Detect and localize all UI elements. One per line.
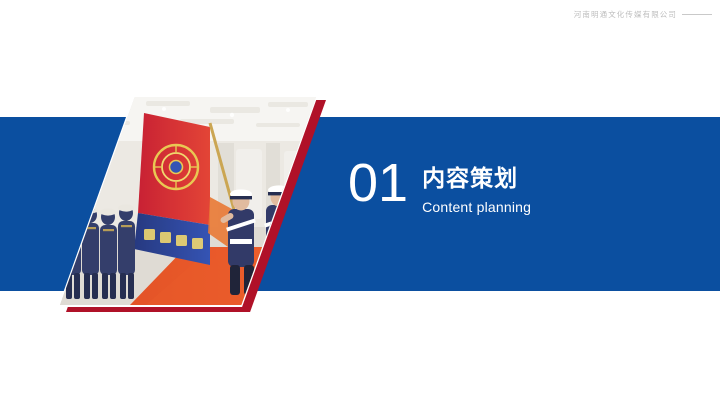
section-number: 01 <box>348 158 408 209</box>
honor-guard-photo <box>60 97 316 305</box>
section-title-block: 01 内容策划 Content planning <box>348 158 531 216</box>
header-company-name: 河南明通文化传媒有限公司 <box>574 9 677 20</box>
section-title-chinese: 内容策划 <box>422 165 531 194</box>
slide-root: 河南明通文化传媒有限公司 <box>0 0 720 405</box>
header: 河南明通文化传媒有限公司 <box>574 9 712 20</box>
section-title-texts: 内容策划 Content planning <box>422 158 531 216</box>
section-title-english: Content planning <box>422 199 531 216</box>
header-rule <box>682 14 712 15</box>
photo-block <box>0 80 380 330</box>
